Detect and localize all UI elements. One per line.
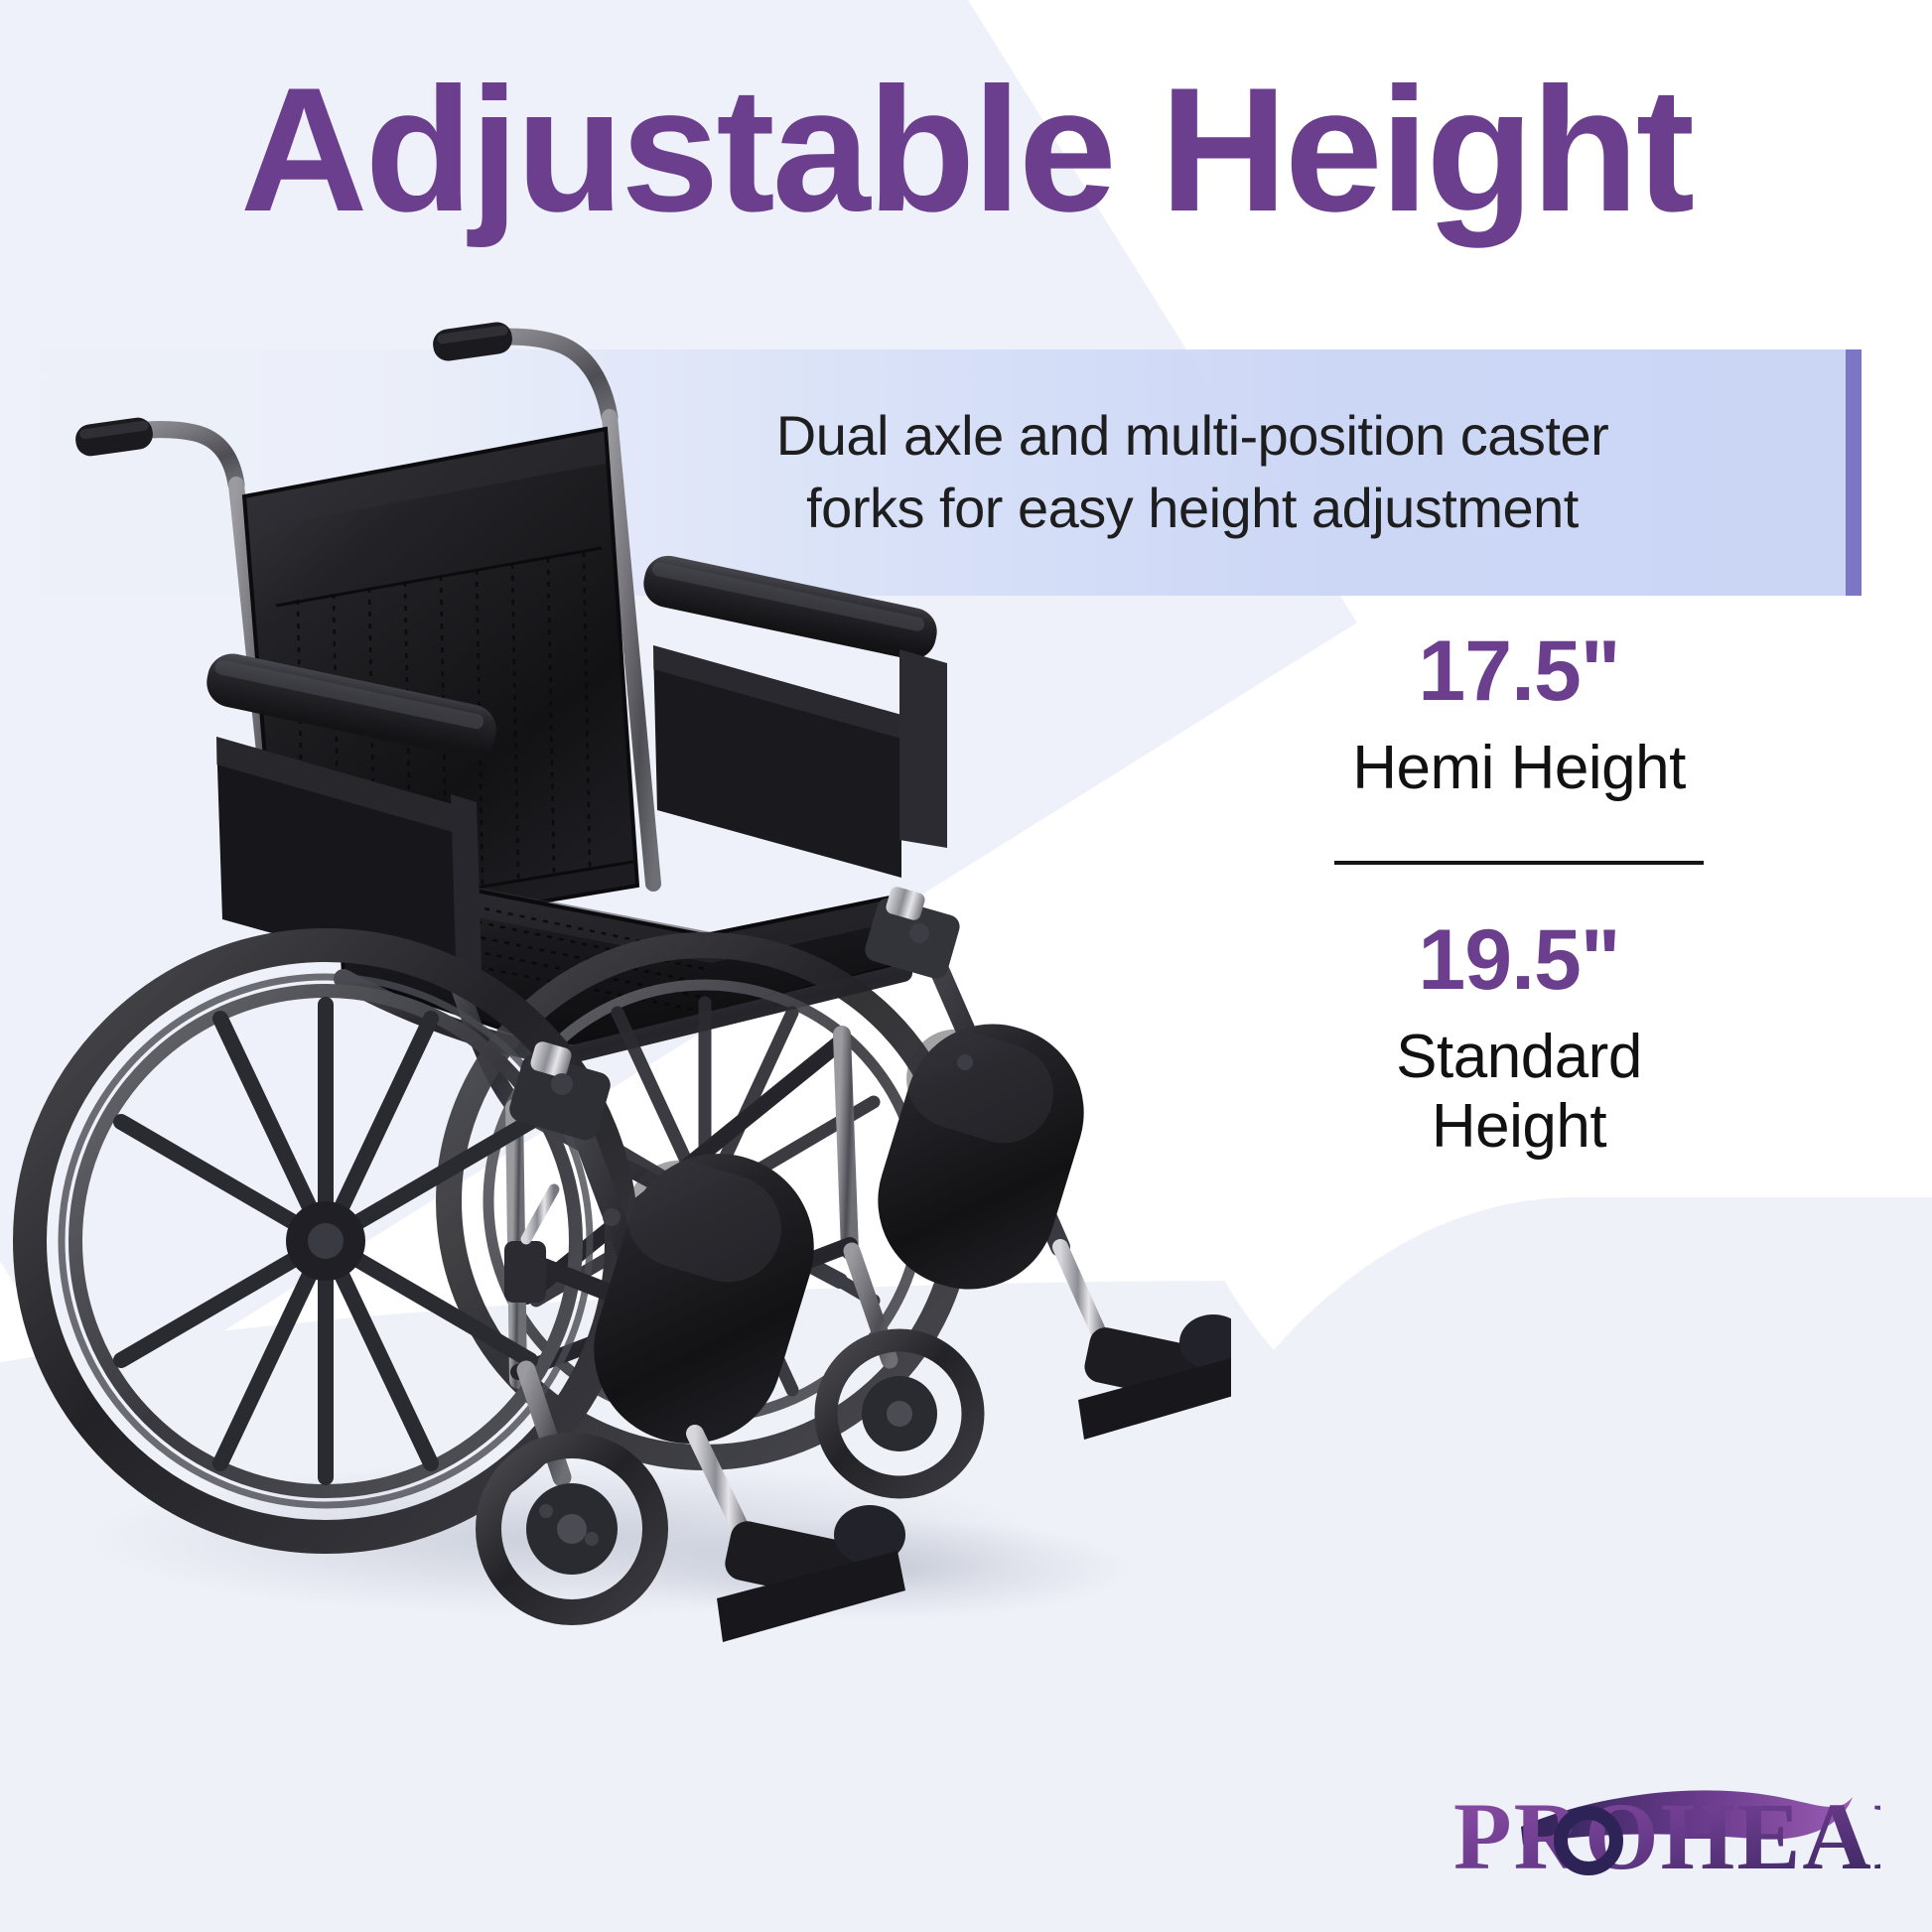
page-title: Adjustable Height [0,62,1932,238]
spec-block-hemi: 17.5" Hemi Height [1172,627,1866,803]
push-handle-right [431,321,610,417]
spec-value-standard: 19.5" [1172,916,1866,1005]
feature-banner-accent-bar [1846,349,1862,596]
armrest-right [639,551,947,878]
spec-label-hemi: Hemi Height [1172,734,1866,802]
infographic-canvas: Adjustable Height Dual axle and multi-po… [0,0,1932,1932]
spec-label-standard-line-1: Standard [1172,1023,1866,1091]
brand-logo-proheal: PROHEAL [1444,1741,1880,1890]
footplate-right [1078,1314,1231,1440]
spec-label-hemi-line-1: Hemi Height [1172,734,1866,802]
specs-divider [1334,861,1704,865]
spec-block-standard: 19.5" Standard Height [1172,916,1866,1161]
specs-panel: 17.5" Hemi Height 19.5" Standard Height [1172,627,1866,1161]
spec-label-standard: Standard Height [1172,1023,1866,1161]
logo-wordmark: PROHEAL [1453,1783,1880,1889]
spec-value-hemi: 17.5" [1172,627,1866,716]
product-image-wheelchair [10,248,1231,1658]
spec-label-standard-line-2: Height [1172,1092,1866,1161]
push-handle-left [73,416,236,484]
